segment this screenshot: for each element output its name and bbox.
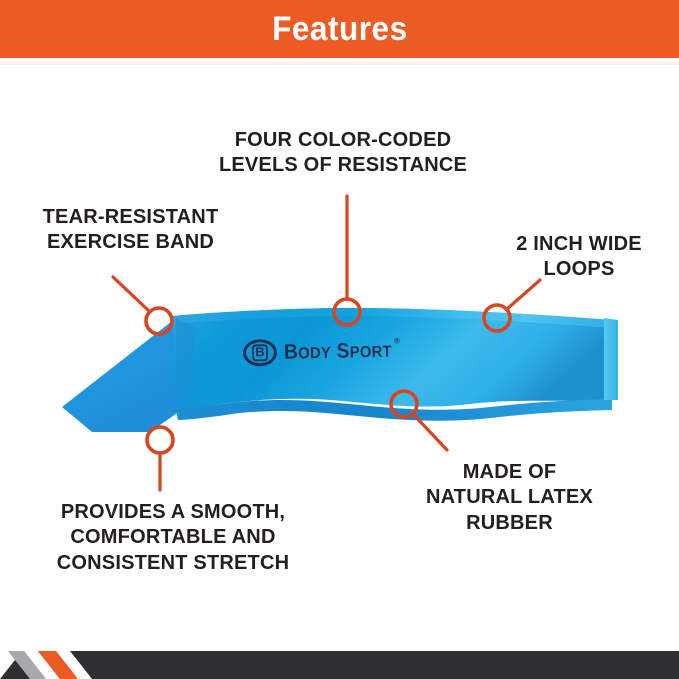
- callout-tear-resistant-exercise-band: TEAR-RESISTANT EXERCISE BAND: [18, 205, 243, 256]
- logo-word-body-cap: B: [284, 340, 299, 363]
- marker-tear-resistant: [146, 308, 172, 334]
- leader-line-natural-latex: [413, 414, 447, 450]
- logo-letter-b: B: [252, 344, 268, 361]
- leader-line-tear-resistant: [113, 277, 149, 311]
- callout-four-color-coded-levels-of-resistance: FOUR COLOR-CODED LEVELS OF RESISTANCE: [198, 128, 488, 179]
- callout-provides-a-smooth-comfortable-and-consistent-stretch: PROVIDES A SMOOTH, COMFORTABLE AND CONSI…: [28, 500, 318, 576]
- marker-natural-latex: [391, 391, 417, 417]
- page-title: Features: [272, 10, 408, 49]
- header-banner: Features: [0, 0, 679, 58]
- logo-word-body-rest: ODY: [298, 344, 331, 362]
- marker-2-inch-wide-loops: [484, 305, 510, 331]
- leader-line-2-inch-wide-loops: [507, 280, 540, 309]
- registered-trademark-icon: ®: [394, 336, 400, 345]
- marker-four-color-coded: [334, 299, 360, 325]
- marker-provides-stretch: [147, 427, 173, 453]
- band-fold-crease: [176, 318, 196, 409]
- band-top-edge: [172, 308, 612, 328]
- logo-word-sport-cap: S: [336, 339, 350, 362]
- logo-word-sport-rest: PORT: [350, 343, 392, 361]
- body-sport-logo: B BODY SPORT®: [243, 336, 402, 366]
- footer-dark-panel: [0, 651, 679, 679]
- footer-stripes-graphic: [0, 648, 679, 679]
- callout-made-of-natural-latex-rubber: MADE OF NATURAL LATEX RUBBER: [392, 460, 627, 536]
- band-bottom-edge: [176, 399, 612, 421]
- product-feature-infographic: Features: [0, 0, 679, 679]
- logo-wordmark: BODY SPORT®: [284, 338, 392, 364]
- callout-2-inch-wide-loops: 2 INCH WIDE LOOPS: [494, 232, 664, 283]
- band-fold-tail: [62, 318, 196, 432]
- header-divider-shadow: [0, 63, 679, 65]
- body-sport-emblem-icon: B: [243, 339, 278, 367]
- band-right-end: [604, 318, 618, 400]
- footer-stripe-bar: [0, 648, 679, 679]
